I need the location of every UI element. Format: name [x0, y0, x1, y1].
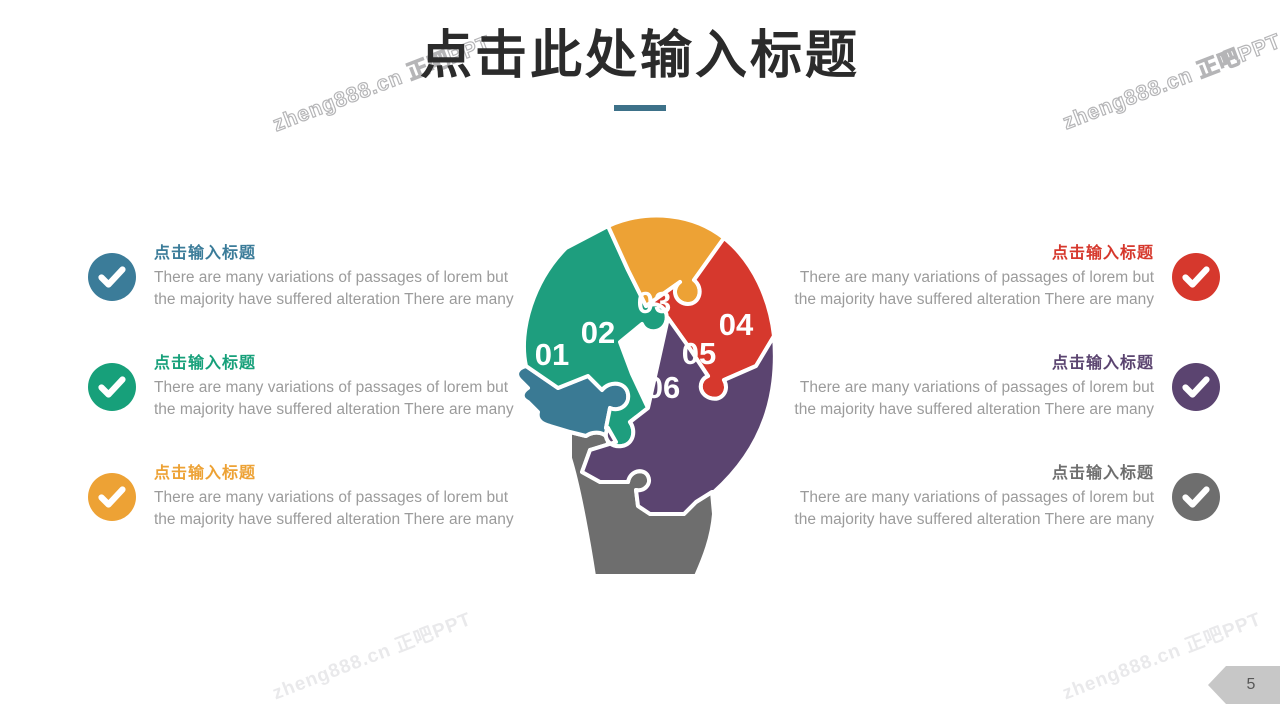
head-puzzle-diagram: 01 02 03 04 05 06 [498, 214, 798, 576]
title-underline-rule [614, 105, 666, 111]
list-item-body: There are many variations of passages of… [154, 487, 518, 531]
check-circle-icon [88, 473, 136, 521]
list-item-heading: 点击输入标题 [790, 353, 1154, 375]
list-item-body: There are many variations of passages of… [790, 267, 1154, 311]
list-item[interactable]: 点击输入标题 There are many variations of pass… [88, 222, 518, 332]
list-item[interactable]: 点击输入标题 There are many variations of pass… [88, 442, 518, 552]
list-item-heading: 点击输入标题 [790, 463, 1154, 485]
list-item-heading: 点击输入标题 [154, 243, 518, 265]
title-block: 点击此处输入标题 [0, 28, 1280, 111]
list-item[interactable]: 点击输入标题 There are many variations of pass… [790, 222, 1220, 332]
list-item-heading: 点击输入标题 [154, 463, 518, 485]
list-item-text: 点击输入标题 There are many variations of pass… [136, 243, 518, 312]
puzzle-label-06: 06 [646, 370, 680, 405]
left-item-column: 点击输入标题 There are many variations of pass… [88, 222, 518, 552]
list-item-text: 点击输入标题 There are many variations of pass… [136, 353, 518, 422]
check-circle-icon [1172, 473, 1220, 521]
page-number-tag: 5 [1208, 666, 1280, 704]
page-title: 点击此处输入标题 [0, 28, 1280, 85]
puzzle-label-05: 05 [682, 336, 716, 371]
check-circle-icon [1172, 363, 1220, 411]
list-item-heading: 点击输入标题 [790, 243, 1154, 265]
right-item-column: 点击输入标题 There are many variations of pass… [790, 222, 1220, 552]
puzzle-label-01: 01 [535, 337, 569, 372]
puzzle-label-03: 03 [637, 285, 671, 320]
list-item-body: There are many variations of passages of… [790, 487, 1154, 531]
puzzle-label-02: 02 [581, 315, 615, 350]
puzzle-label-04: 04 [719, 307, 754, 342]
check-circle-icon [88, 253, 136, 301]
page-number: 5 [1208, 666, 1280, 704]
list-item-text: 点击输入标题 There are many variations of pass… [136, 463, 518, 532]
list-item-text: 点击输入标题 There are many variations of pass… [790, 463, 1172, 532]
list-item[interactable]: 点击输入标题 There are many variations of pass… [88, 332, 518, 442]
list-item-text: 点击输入标题 There are many variations of pass… [790, 243, 1172, 312]
watermark-bottom-left: zheng888.cn 正吧PPT [268, 604, 475, 705]
list-item[interactable]: 点击输入标题 There are many variations of pass… [790, 332, 1220, 442]
list-item-text: 点击输入标题 There are many variations of pass… [790, 353, 1172, 422]
check-circle-icon [1172, 253, 1220, 301]
list-item-body: There are many variations of passages of… [790, 377, 1154, 421]
check-circle-icon [88, 363, 136, 411]
list-item-body: There are many variations of passages of… [154, 377, 518, 421]
list-item[interactable]: 点击输入标题 There are many variations of pass… [790, 442, 1220, 552]
list-item-heading: 点击输入标题 [154, 353, 518, 375]
list-item-body: There are many variations of passages of… [154, 267, 518, 311]
